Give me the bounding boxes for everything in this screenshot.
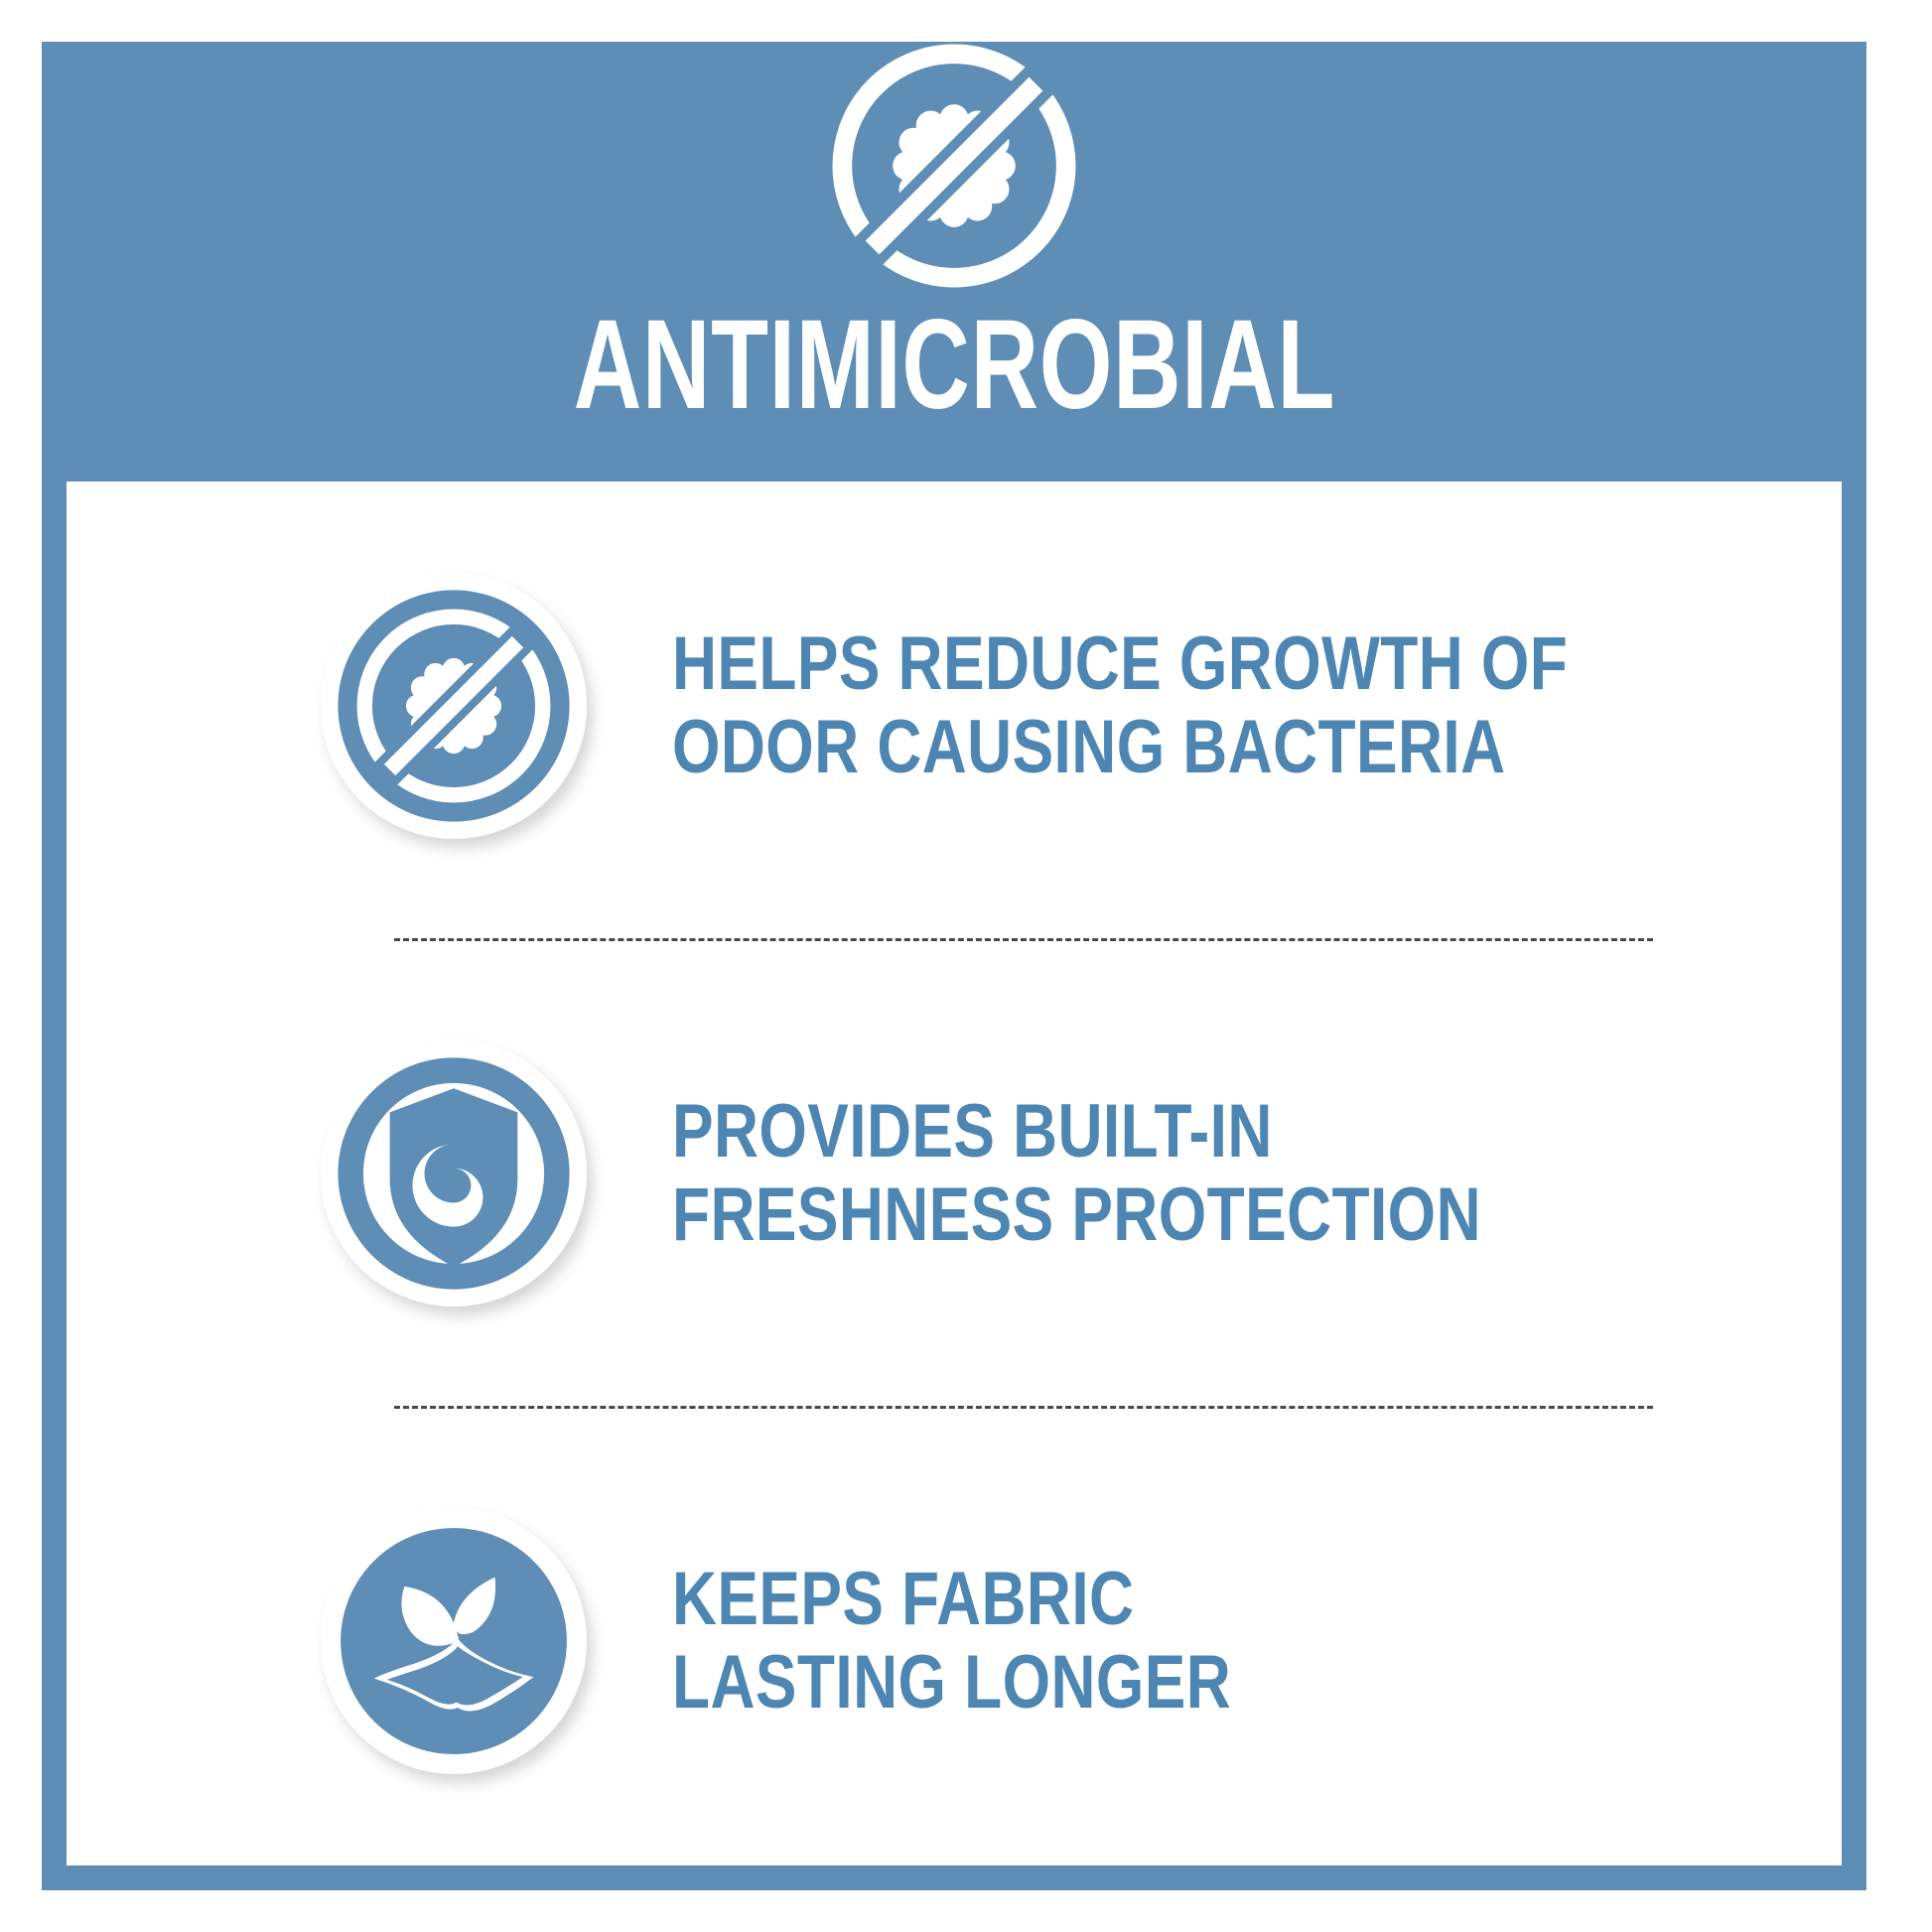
- feature-label: HELPS REDUCE GROWTH OF ODOR CAUSING BACT…: [672, 622, 1568, 790]
- feature-label: KEEPS FABRIC LASTING LONGER: [672, 1558, 1231, 1725]
- no-germ-icon: [321, 573, 587, 839]
- feature-row: KEEPS FABRIC LASTING LONGER: [67, 1417, 1842, 1865]
- shield-swirl-icon: [321, 1040, 587, 1307]
- leaf-sprout-icon: [321, 1508, 587, 1774]
- antimicrobial-poster: ANTIMICROBIAL: [42, 42, 1866, 1890]
- poster-header: ANTIMICROBIAL: [42, 42, 1866, 482]
- feature-row: HELPS REDUCE GROWTH OF ODOR CAUSING BACT…: [67, 482, 1842, 930]
- page-title: ANTIMICROBIAL: [573, 302, 1334, 429]
- feature-label: PROVIDES BUILT-IN FRESHNESS PROTECTION: [672, 1090, 1481, 1258]
- feature-row: PROVIDES BUILT-IN FRESHNESS PROTECTION: [67, 949, 1842, 1398]
- feature-divider: [394, 938, 1653, 941]
- feature-divider: [394, 1406, 1653, 1409]
- feature-list: HELPS REDUCE GROWTH OF ODOR CAUSING BACT…: [67, 482, 1842, 1865]
- features-panel: HELPS REDUCE GROWTH OF ODOR CAUSING BACT…: [67, 482, 1842, 1865]
- no-germ-icon: [824, 36, 1084, 296]
